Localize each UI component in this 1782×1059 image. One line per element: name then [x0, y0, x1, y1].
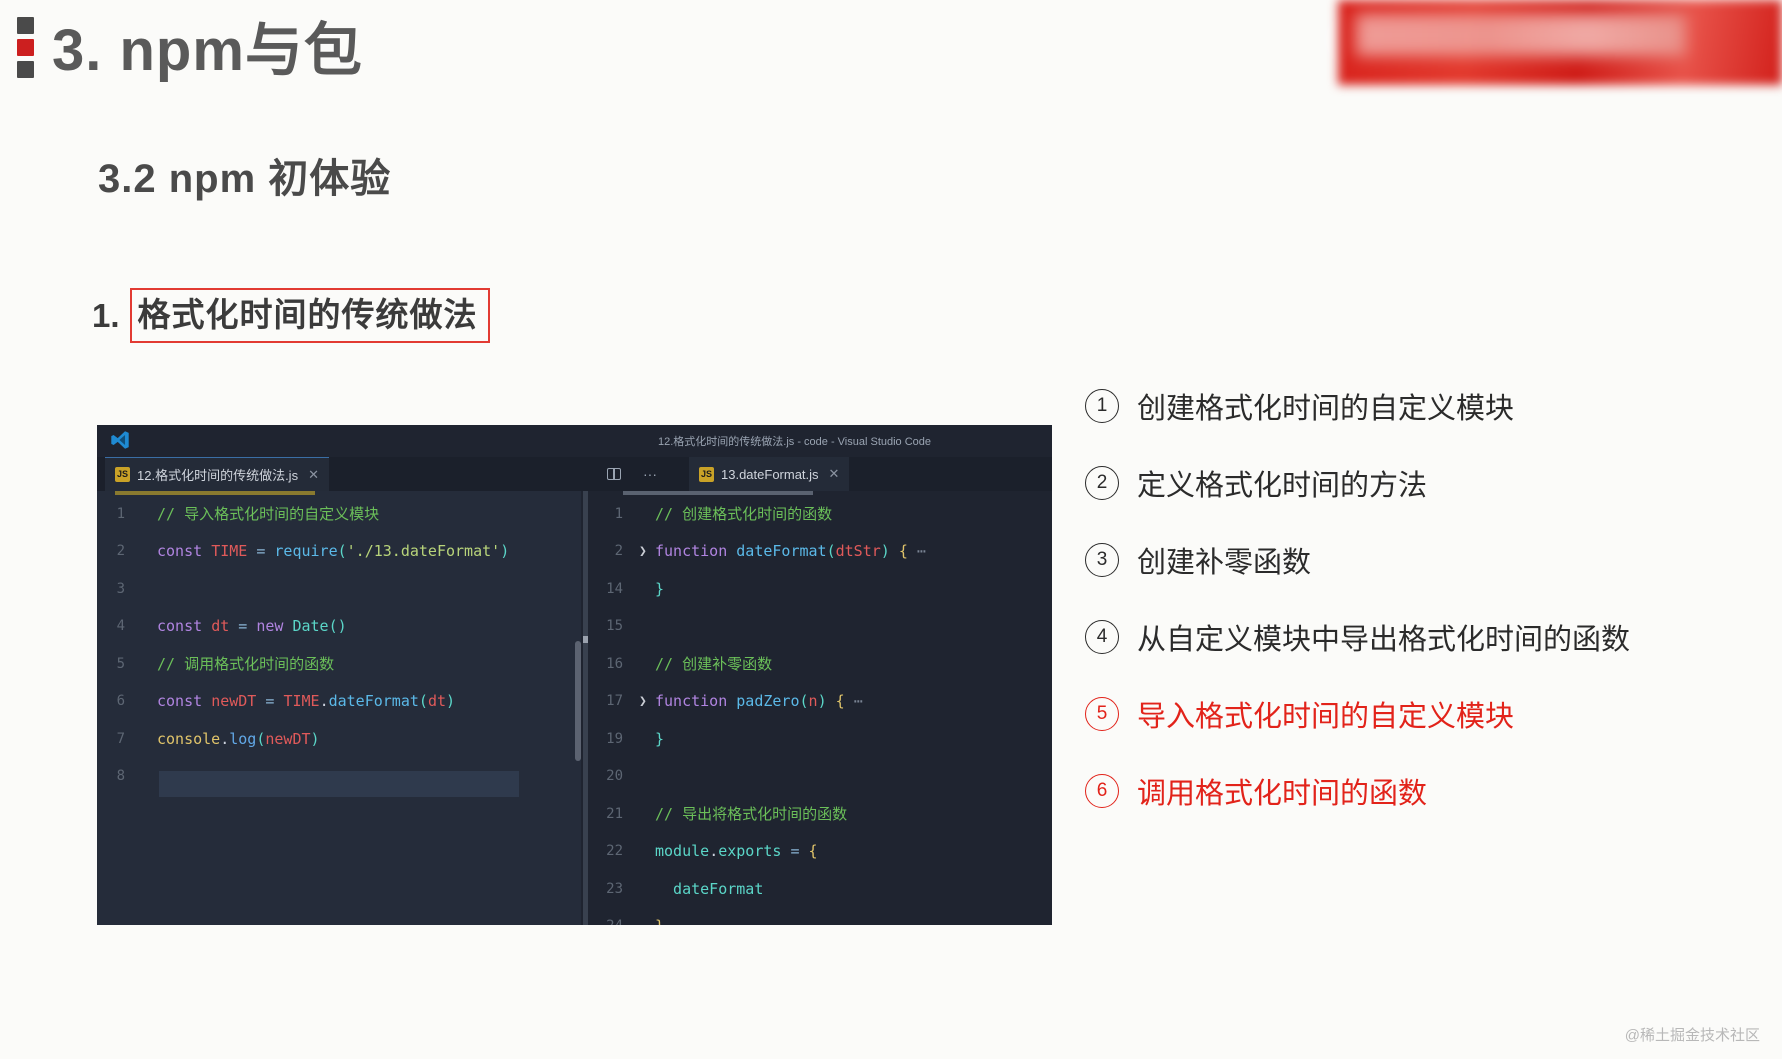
step-item: 4从自定义模块中导出格式化时间的函数 [1085, 616, 1775, 658]
vscode-window-title: 12.格式化时间的传统做法.js - code - Visual Studio … [97, 433, 1052, 449]
scrollbar-vertical[interactable] [575, 641, 581, 761]
slide-canvas: 3. npm与包 3.2 npm 初体验 1. 格式化时间的传统做法 12.格式… [0, 0, 1782, 1059]
code-lines-left: 1// 导入格式化时间的自定义模块2const TIME = require('… [97, 495, 581, 795]
step-number: 3 [1085, 543, 1119, 577]
code-line[interactable]: 14} [583, 570, 1052, 608]
js-file-icon: JS [115, 467, 130, 482]
section-subtitle: 3.2 npm 初体验 [98, 146, 391, 204]
line-number: 2 [583, 543, 639, 559]
step-number: 2 [1085, 466, 1119, 500]
code-line[interactable]: 1// 创建格式化时间的函数 [583, 495, 1052, 533]
step-label: 导入格式化时间的自定义模块 [1137, 693, 1514, 735]
code-lines-right: 1// 创建格式化时间的函数2❯function dateFormat(dtSt… [583, 495, 1052, 925]
js-file-icon: JS [699, 467, 714, 482]
code-text: // 调用格式化时间的函数 [157, 653, 334, 674]
step-label: 调用格式化时间的函数 [1137, 770, 1427, 812]
editor-tab-right-label: 13.dateFormat.js [721, 467, 819, 482]
code-text: // 创建补零函数 [655, 653, 772, 674]
tabbar-actions: ··· [607, 457, 657, 491]
line-number: 4 [97, 618, 141, 634]
code-text: // 导出将格式化时间的函数 [655, 803, 847, 824]
editor-tab-left-label: 12.格式化时间的传统做法.js [137, 465, 298, 484]
highlighted-point-text: 格式化时间的传统做法 [130, 288, 490, 343]
code-line[interactable]: 24} [583, 908, 1052, 926]
editor-tab-left[interactable]: JS 12.格式化时间的传统做法.js ✕ [105, 457, 329, 491]
step-number: 6 [1085, 774, 1119, 808]
step-number: 4 [1085, 620, 1119, 654]
line-number: 1 [583, 506, 639, 522]
code-line[interactable]: 7console.log(newDT) [97, 720, 581, 758]
step-label: 创建补零函数 [1137, 539, 1311, 581]
split-editor-icon[interactable] [607, 468, 621, 480]
step-number: 5 [1085, 697, 1119, 731]
code-line[interactable]: 21// 导出将格式化时间的函数 [583, 795, 1052, 833]
watermark-text: @稀土掘金技术社区 [1625, 1024, 1760, 1045]
code-text: // 导入格式化时间的自定义模块 [157, 503, 379, 524]
code-line[interactable]: 19} [583, 720, 1052, 758]
step-item: 6调用格式化时间的函数 [1085, 770, 1775, 812]
code-line[interactable]: 23 dateFormat [583, 870, 1052, 908]
line-number: 14 [583, 581, 639, 597]
code-text: function padZero(n) { ⋯ [655, 692, 863, 710]
close-icon[interactable]: ✕ [308, 467, 319, 483]
line-number: 15 [583, 618, 639, 634]
code-text: module.exports = { [655, 842, 818, 860]
code-line[interactable]: 6const newDT = TIME.dateFormat(dt) [97, 683, 581, 721]
code-text: dateFormat [655, 880, 763, 898]
fold-chevron-icon[interactable]: ❯ [639, 694, 653, 709]
code-line[interactable]: 3 [97, 570, 581, 608]
page-title: 3. npm与包 [52, 3, 363, 87]
more-actions-icon[interactable]: ··· [643, 466, 657, 482]
code-text: const TIME = require('./13.dateFormat') [157, 542, 509, 560]
line-number: 3 [97, 581, 141, 597]
numbered-point: 1. 格式化时间的传统做法 [92, 288, 490, 343]
blurred-banner [1338, 0, 1782, 85]
code-text: } [655, 917, 664, 925]
point-number: 1. [92, 297, 120, 335]
editor-pane-right[interactable]: 1// 创建格式化时间的函数2❯function dateFormat(dtSt… [583, 491, 1052, 925]
line-number: 20 [583, 768, 639, 784]
code-text: const newDT = TIME.dateFormat(dt) [157, 692, 455, 710]
code-line[interactable]: 15 [583, 608, 1052, 646]
line-number: 21 [583, 806, 639, 822]
step-item: 1创建格式化时间的自定义模块 [1085, 385, 1775, 427]
line-number: 23 [583, 881, 639, 897]
step-label: 从自定义模块中导出格式化时间的函数 [1137, 616, 1630, 658]
code-line[interactable]: 20 [583, 758, 1052, 796]
line-number: 7 [97, 731, 141, 747]
code-text: const dt = new Date() [157, 617, 347, 635]
line-number: 24 [583, 918, 639, 925]
line-number: 22 [583, 843, 639, 859]
code-text: } [655, 580, 664, 598]
editor-panes: 1// 导入格式化时间的自定义模块2const TIME = require('… [97, 491, 1052, 925]
code-line[interactable]: 1// 导入格式化时间的自定义模块 [97, 495, 581, 533]
code-text: } [655, 730, 664, 748]
step-label: 创建格式化时间的自定义模块 [1137, 385, 1514, 427]
step-number: 1 [1085, 389, 1119, 423]
code-line[interactable]: 4const dt = new Date() [97, 608, 581, 646]
step-item: 5导入格式化时间的自定义模块 [1085, 693, 1775, 735]
step-label: 定义格式化时间的方法 [1137, 462, 1427, 504]
line-number: 8 [97, 768, 141, 784]
code-line[interactable]: 16// 创建补零函数 [583, 645, 1052, 683]
steps-list: 1创建格式化时间的自定义模块2定义格式化时间的方法3创建补零函数4从自定义模块中… [1085, 385, 1775, 847]
line-number: 19 [583, 731, 639, 747]
line-number: 2 [97, 543, 141, 559]
code-line[interactable]: 5// 调用格式化时间的函数 [97, 645, 581, 683]
fold-chevron-icon[interactable]: ❯ [639, 544, 653, 559]
vscode-window: 12.格式化时间的传统做法.js - code - Visual Studio … [97, 425, 1052, 925]
code-line[interactable]: 2❯function dateFormat(dtStr) { ⋯ [583, 533, 1052, 571]
close-icon[interactable]: ✕ [829, 466, 840, 482]
code-line[interactable]: 2const TIME = require('./13.dateFormat') [97, 533, 581, 571]
vscode-titlebar: 12.格式化时间的传统做法.js - code - Visual Studio … [97, 425, 1052, 457]
step-item: 3创建补零函数 [1085, 539, 1775, 581]
code-text: console.log(newDT) [157, 730, 320, 748]
line-number: 6 [97, 693, 141, 709]
line-number: 5 [97, 656, 141, 672]
editor-pane-left[interactable]: 1// 导入格式化时间的自定义模块2const TIME = require('… [97, 491, 581, 925]
line-number: 17 [583, 693, 639, 709]
line-number: 1 [97, 506, 141, 522]
vscode-tabbar: JS 12.格式化时间的传统做法.js ✕ ··· JS 13.dateForm… [97, 457, 1052, 491]
code-line[interactable]: 22module.exports = { [583, 833, 1052, 871]
bullet-marker-icon [17, 17, 34, 79]
code-line[interactable]: 17❯function padZero(n) { ⋯ [583, 683, 1052, 721]
code-text: function dateFormat(dtStr) { ⋯ [655, 542, 926, 560]
step-item: 2定义格式化时间的方法 [1085, 462, 1775, 504]
selection-highlight [159, 771, 519, 797]
editor-tab-right[interactable]: JS 13.dateFormat.js ✕ [689, 457, 849, 491]
code-text: // 创建格式化时间的函数 [655, 503, 832, 524]
line-number: 16 [583, 656, 639, 672]
